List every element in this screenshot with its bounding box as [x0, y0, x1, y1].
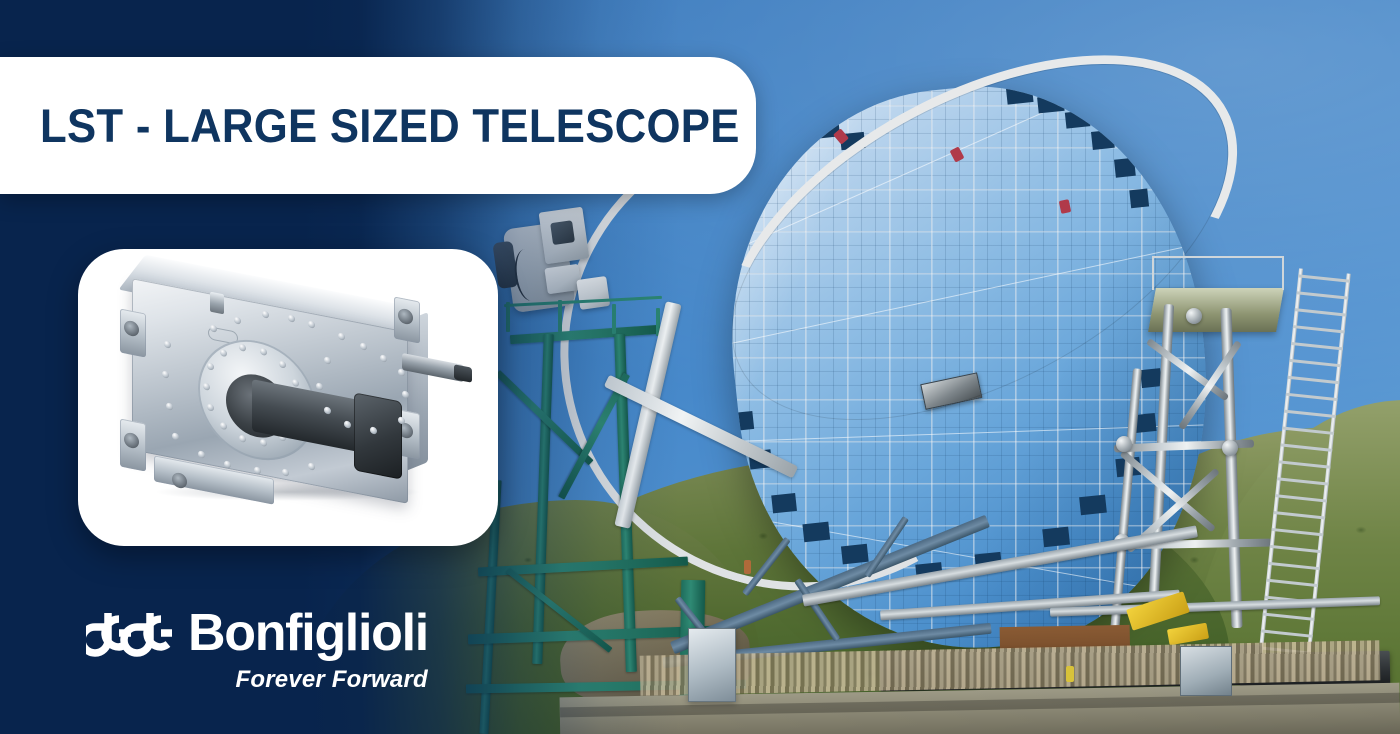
gearbox-flange-bolt	[203, 382, 210, 390]
gearbox-icon	[102, 271, 474, 525]
gearbox-shaft-end-cap	[354, 392, 402, 479]
gearbox-flange-bolt	[220, 422, 227, 430]
page-title: LST - LARGE SIZED TELESCOPE	[40, 102, 740, 149]
gearbox-flange-bolt	[239, 343, 246, 351]
brand-name: Bonfiglioli	[188, 607, 428, 659]
bonfiglioli-logo-icon	[86, 606, 172, 660]
gearbox-flange-bolt	[260, 439, 267, 447]
gearbox-flange-bolt	[207, 403, 214, 411]
promo-banner-canvas: LST - LARGE SIZED TELESCOPE	[0, 0, 1400, 734]
gearbox-breather-plug	[210, 292, 224, 315]
gearbox-flange-bolt	[279, 360, 286, 368]
brand-logo: Bonfiglioli Forever Forward	[86, 606, 428, 694]
gearbox-flange-bolt	[292, 379, 299, 387]
gearbox-flange-bolt	[239, 435, 246, 443]
title-banner: LST - LARGE SIZED TELESCOPE	[0, 57, 756, 194]
gearbox-flange-bolt	[220, 349, 227, 357]
product-image-card	[78, 249, 498, 546]
gearbox-flange-bolt	[260, 347, 267, 355]
brand-tagline: Forever Forward	[86, 666, 428, 694]
gearbox-flange-bolt	[207, 362, 214, 370]
